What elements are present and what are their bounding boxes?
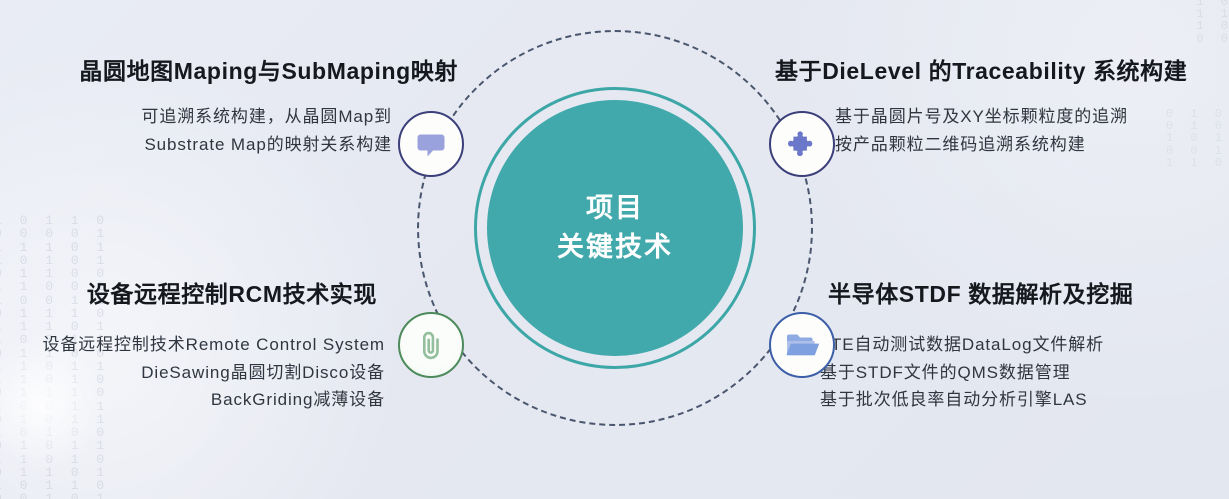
body-line: 基于晶圆片号及XY坐标颗粒度的追溯 bbox=[835, 103, 1229, 131]
quadrant-body: 设备远程控制技术Remote Control System DieSawing晶… bbox=[0, 331, 385, 414]
body-line: ATE自动测试数据DataLog文件解析 bbox=[820, 331, 1229, 359]
body-line: DieSawing晶圆切割Disco设备 bbox=[0, 359, 385, 387]
paperclip-icon bbox=[414, 328, 448, 362]
badge-remote-control-rcm[interactable] bbox=[398, 312, 464, 378]
badge-wafer-mapping[interactable] bbox=[398, 111, 464, 177]
infographic-canvas: 1 0 1 1 0 0 0 0 0 1 1 1 1 0 1 1 0 1 0 1 … bbox=[0, 0, 1229, 499]
body-line: 设备远程控制技术Remote Control System bbox=[0, 331, 385, 359]
puzzle-piece-icon bbox=[785, 127, 819, 161]
quadrant-remote-control-rcm: 设备远程控制RCM技术实现 设备远程控制技术Remote Control Sys… bbox=[0, 275, 385, 414]
central-diagram: 项目 关键技术 bbox=[370, 8, 860, 498]
center-hub: 项目 关键技术 bbox=[487, 100, 743, 356]
quadrant-body: 基于晶圆片号及XY坐标颗粒度的追溯 按产品颗粒二维码追溯系统构建 bbox=[835, 103, 1229, 158]
body-line: BackGriding减薄设备 bbox=[0, 386, 385, 414]
body-line: 基于STDF文件的QMS数据管理 bbox=[820, 359, 1229, 387]
body-line: 可追溯系统构建，从晶圆Map到 bbox=[0, 103, 392, 131]
body-line: Substrate Map的映射关系构建 bbox=[0, 131, 392, 159]
center-hub-line-1: 项目 bbox=[586, 193, 644, 224]
body-line: 按产品颗粒二维码追溯系统构建 bbox=[835, 131, 1229, 159]
quadrant-heading: 半导体STDF 数据解析及挖掘 bbox=[828, 275, 1229, 309]
quadrant-stdf-data-analysis: 半导体STDF 数据解析及挖掘 ATE自动测试数据DataLog文件解析 基于S… bbox=[820, 275, 1229, 414]
badge-stdf-data-analysis[interactable] bbox=[769, 312, 835, 378]
quadrant-heading: 设备远程控制RCM技术实现 bbox=[0, 275, 377, 309]
quadrant-body: 可追溯系统构建，从晶圆Map到 Substrate Map的映射关系构建 bbox=[0, 103, 392, 158]
center-hub-line-2: 关键技术 bbox=[557, 232, 673, 263]
badge-die-level-traceability[interactable] bbox=[769, 111, 835, 177]
body-line: 基于批次低良率自动分析引擎LAS bbox=[820, 386, 1229, 414]
speech-bubble-icon bbox=[415, 128, 447, 160]
quadrant-body: ATE自动测试数据DataLog文件解析 基于STDF文件的QMS数据管理 基于… bbox=[820, 331, 1229, 414]
open-folder-icon bbox=[784, 329, 820, 361]
binary-decoration-right: 1 0 1 1 1 0 0 0 bbox=[1196, 0, 1229, 45]
